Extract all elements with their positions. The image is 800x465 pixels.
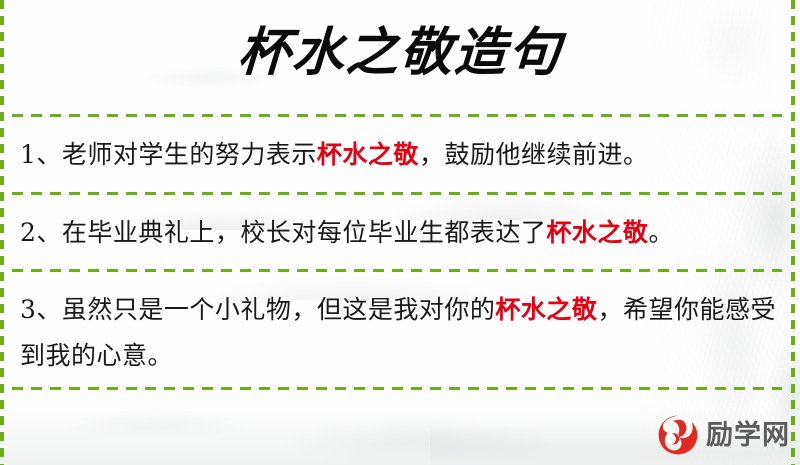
brand-name-text: 励学网 [706,422,790,449]
divider-below-sentence-3 [12,387,782,390]
sentence-2-keyword: 杯水之敬 [546,218,648,247]
sentence-3-keyword: 杯水之敬 [495,295,597,324]
sentence-2-suffix: 。 [648,218,674,247]
divider-below-sentence-2 [12,269,782,272]
divider-below-sentence-1 [12,192,782,195]
sentence-1-suffix: ，鼓励他继续前进。 [419,140,649,169]
example-sentence-3: 3、虽然只是一个小礼物，但这是我对你的杯水之敬，希望你能感受到我的心意。 [20,287,778,379]
divider-below-title [12,114,782,117]
page-root: 杯水之敬造句 1、老师对学生的努力表示杯水之敬，鼓励他继续前进。 2、在毕业典礼… [0,0,800,465]
example-sentence-2: 2、在毕业典礼上，校长对每位毕业生都表达了杯水之敬。 [20,210,778,256]
ink-wash-mountain-bottom [180,395,580,465]
ink-wash-mountain-lower-left [0,395,260,440]
sentence-1-prefix: 1、老师对学生的努力表示 [20,140,317,169]
red-swirl-flame-icon [657,414,699,456]
sentence-1-keyword: 杯水之敬 [317,140,419,169]
sentence-3-prefix: 3、虽然只是一个小礼物，但这是我对你的 [20,295,495,324]
page-title: 杯水之敬造句 [0,22,800,83]
example-sentence-1: 1、老师对学生的努力表示杯水之敬，鼓励他继续前进。 [20,132,778,178]
site-watermark-logo: 励学网 [657,414,790,456]
sentence-2-prefix: 2、在毕业典礼上，校长对每位毕业生都表达了 [20,218,546,247]
